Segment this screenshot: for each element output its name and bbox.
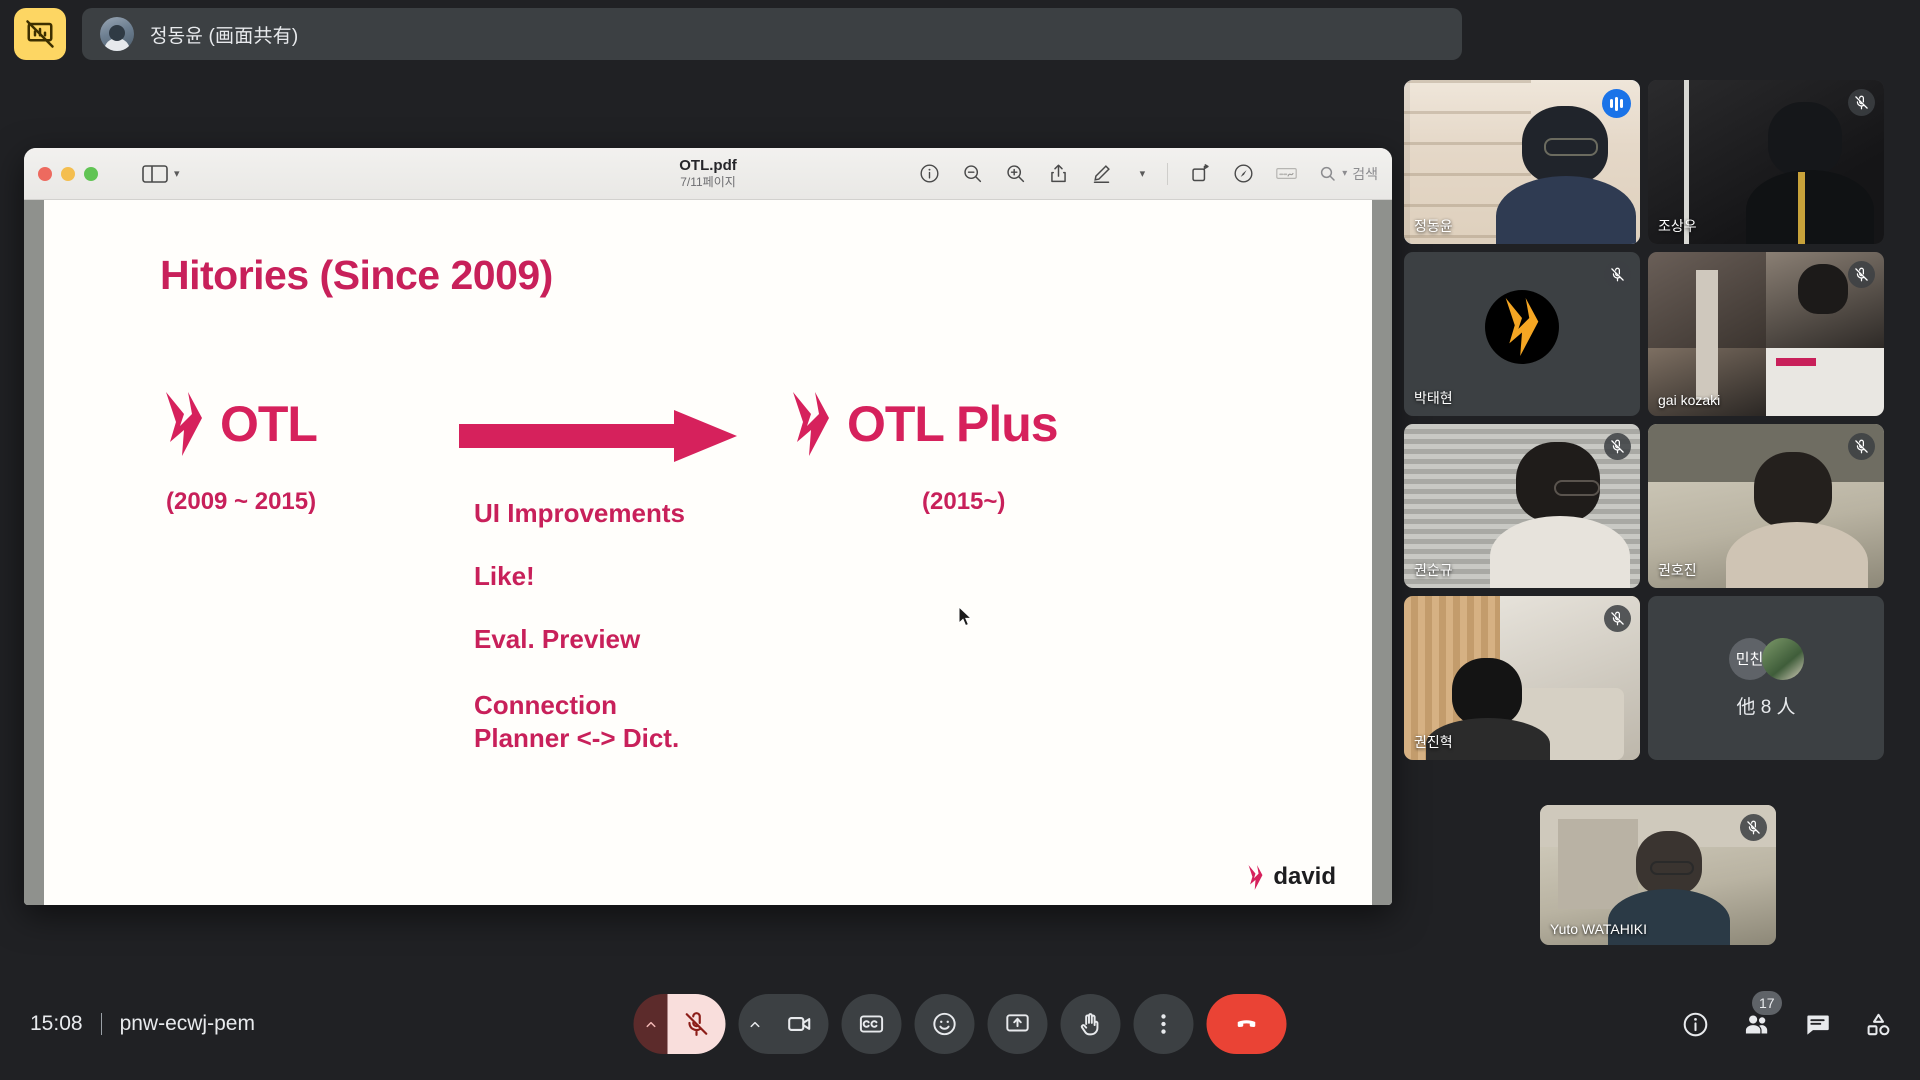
mic-off-icon: [1604, 605, 1631, 632]
avatar: [100, 17, 134, 51]
participant-name: 조상우: [1658, 216, 1697, 236]
search-input[interactable]: ▾ 검색: [1319, 164, 1378, 184]
speaking-indicator-icon: [1602, 89, 1631, 118]
pdf-page[interactable]: Hitories (Since 2009) OTL OTL Plus: [44, 200, 1372, 905]
slide-footer: david: [1247, 863, 1336, 891]
chevron-down-icon[interactable]: ▾: [174, 167, 180, 180]
participant-tile-chosangwoo[interactable]: 조상우: [1648, 80, 1884, 244]
meeting-code: pnw-ecwj-pem: [120, 1012, 255, 1036]
slide-author: david: [1273, 863, 1336, 891]
phone-hangup-icon: [1232, 1009, 1262, 1039]
tile-row: 박태현 gai kozaki: [1404, 252, 1904, 416]
camera-control-group[interactable]: [739, 994, 829, 1054]
tile-row: 권진혁 민친 他 8 人: [1404, 596, 1904, 760]
avatar: [1762, 638, 1804, 680]
tile-row: 정동윤 조상우: [1404, 80, 1904, 244]
hand-icon: [1078, 1011, 1104, 1037]
otl-period: (2009 ~ 2015): [166, 488, 316, 516]
pdf-body: Hitories (Since 2009) OTL OTL Plus: [24, 200, 1392, 905]
otl-brand-name: OTL: [220, 395, 317, 453]
overflow-count-label: 他 8 人: [1736, 692, 1795, 719]
participant-name: 권순규: [1414, 560, 1453, 580]
activities-button[interactable]: [1865, 1011, 1892, 1038]
participant-grid: 정동윤 조상우: [1404, 80, 1904, 768]
search-placeholder: 검색: [1352, 164, 1378, 184]
lightning-bolt-avatar: [1485, 290, 1559, 364]
signature-icon[interactable]: [1276, 163, 1297, 184]
closed-captions-icon: [859, 1011, 885, 1037]
document-title-block: OTL.pdf 7/11페이지: [679, 157, 736, 189]
close-window-button[interactable]: [38, 167, 52, 181]
emoji-smile-icon: [932, 1011, 958, 1037]
presentation-off-icon[interactable]: [14, 8, 66, 60]
mic-off-icon: [684, 1011, 710, 1037]
end-call-button[interactable]: [1207, 994, 1287, 1054]
otl-brand: OTL: [162, 392, 317, 456]
otl-plus-brand: OTL Plus: [789, 392, 1058, 456]
pdf-toolbar: ▾ OTL.pdf 7/11페이지: [24, 148, 1392, 200]
participant-tile-kwonhojin[interactable]: 권호진: [1648, 424, 1884, 588]
pdf-left-gutter: [24, 200, 44, 905]
slide-content: Hitories (Since 2009) OTL OTL Plus: [44, 200, 1372, 905]
people-icon: [1743, 1011, 1770, 1038]
more-options-button[interactable]: [1134, 994, 1194, 1054]
meeting-details-button[interactable]: [1682, 1011, 1709, 1038]
pdf-preview-window[interactable]: ▾ OTL.pdf 7/11페이지: [24, 148, 1392, 905]
participant-name: gai kozaki: [1658, 392, 1720, 408]
top-bar: 정동윤 (画面共有): [0, 0, 1920, 68]
otl-plus-period: (2015~): [922, 488, 1005, 516]
connection-line-1: Connection: [474, 689, 685, 722]
improvements-list: UI Improvements Like! Eval. Preview Conn…: [474, 500, 685, 756]
video-camera-icon: [787, 1011, 813, 1037]
participant-name: 권진혁: [1414, 732, 1453, 752]
camera-options-caret[interactable]: [739, 994, 771, 1054]
mic-off-icon: [1848, 433, 1875, 460]
participant-tile-parktaehyun[interactable]: 박태현: [1404, 252, 1640, 416]
sharer-name: 정동윤 (画面共有): [150, 21, 298, 48]
chat-button[interactable]: [1804, 1011, 1831, 1038]
mic-off-icon: [1740, 814, 1767, 841]
shapes-icon: [1865, 1011, 1892, 1038]
captions-button[interactable]: [842, 994, 902, 1054]
participant-tile-jeongdongyun[interactable]: 정동윤: [1404, 80, 1640, 244]
document-title: OTL.pdf: [679, 157, 736, 174]
mic-off-icon: [1604, 433, 1631, 460]
participant-name: 박태현: [1414, 388, 1453, 408]
otl-plus-brand-name: OTL Plus: [847, 395, 1058, 453]
info-icon[interactable]: [919, 163, 940, 184]
present-screen-icon: [1005, 1011, 1031, 1037]
call-controls: [634, 994, 1287, 1054]
present-button[interactable]: [988, 994, 1048, 1054]
participant-tile-kwonjinhyuk[interactable]: 권진혁: [1404, 596, 1640, 760]
chat-bubble-icon: [1804, 1011, 1831, 1038]
screen-share-banner: 정동윤 (画面共有): [82, 8, 1462, 60]
divider: [101, 1013, 102, 1035]
reactions-button[interactable]: [915, 994, 975, 1054]
microphone-control-group[interactable]: [634, 994, 726, 1054]
otl-logo-icon: [1247, 865, 1264, 890]
overflow-participants-tile[interactable]: 민친 他 8 人: [1648, 596, 1884, 760]
self-view-name: Yuto WATAHIKI: [1550, 921, 1647, 937]
improvement-item: Like!: [474, 563, 685, 589]
overflow-avatars: 민친: [1729, 638, 1804, 680]
zoom-in-icon[interactable]: [1005, 163, 1026, 184]
right-actions: 17: [1682, 1011, 1892, 1038]
mouse-cursor-icon: [959, 607, 973, 627]
clock: 15:08: [30, 1012, 83, 1036]
three-dots-icon: [1151, 1011, 1177, 1037]
otl-logo-icon: [789, 392, 833, 456]
otl-logo-icon: [162, 392, 206, 456]
zoom-out-icon[interactable]: [962, 163, 983, 184]
participant-count-badge: 17: [1752, 991, 1782, 1015]
mic-off-icon: [1604, 261, 1631, 288]
tile-row: 권순규 권호진: [1404, 424, 1904, 588]
self-view-tile[interactable]: Yuto WATAHIKI: [1540, 805, 1776, 945]
brand-row: OTL OTL Plus (2009 ~ 2015) (2: [44, 380, 1372, 510]
raise-hand-button[interactable]: [1061, 994, 1121, 1054]
meeting-info: 15:08 pnw-ecwj-pem: [30, 1012, 255, 1036]
participant-name: 정동윤: [1414, 216, 1453, 236]
annotate-icon[interactable]: [1233, 163, 1254, 184]
lightning-bolt-icon: [1502, 298, 1542, 356]
toolbar-divider: [1167, 163, 1168, 185]
improvement-item: Eval. Preview: [474, 626, 685, 652]
participant-tile-kwonsoonkyu[interactable]: 권순규: [1404, 424, 1640, 588]
participant-name: 권호진: [1658, 560, 1697, 580]
participant-tile-gaikozaki[interactable]: gai kozaki: [1648, 252, 1884, 416]
sidebar-toggle-icon[interactable]: [142, 164, 168, 184]
improvement-item: UI Improvements: [474, 500, 685, 526]
info-icon: [1682, 1011, 1709, 1038]
page-indicator: 7/11페이지: [679, 176, 736, 190]
bottom-bar: 15:08 pnw-ecwj-pem: [0, 968, 1920, 1080]
share-icon[interactable]: [1048, 163, 1069, 184]
microphone-button[interactable]: [668, 994, 726, 1054]
connection-line-2: Planner <-> Dict.: [474, 722, 685, 755]
participants-button[interactable]: 17: [1743, 1011, 1770, 1038]
camera-button[interactable]: [771, 994, 829, 1054]
maximize-window-button[interactable]: [84, 167, 98, 181]
mic-options-caret[interactable]: [634, 994, 668, 1054]
minimize-window-button[interactable]: [61, 167, 75, 181]
window-traffic-lights[interactable]: [38, 167, 98, 181]
rotate-icon[interactable]: [1190, 163, 1211, 184]
ui-improvements-arrow-icon: [459, 408, 739, 464]
mic-off-icon: [1848, 261, 1875, 288]
chevron-down-icon[interactable]: ▾: [1140, 167, 1146, 180]
mic-off-icon: [1848, 89, 1875, 116]
markup-pen-icon[interactable]: [1091, 163, 1112, 184]
slide-title: Hitories (Since 2009): [160, 252, 1318, 299]
